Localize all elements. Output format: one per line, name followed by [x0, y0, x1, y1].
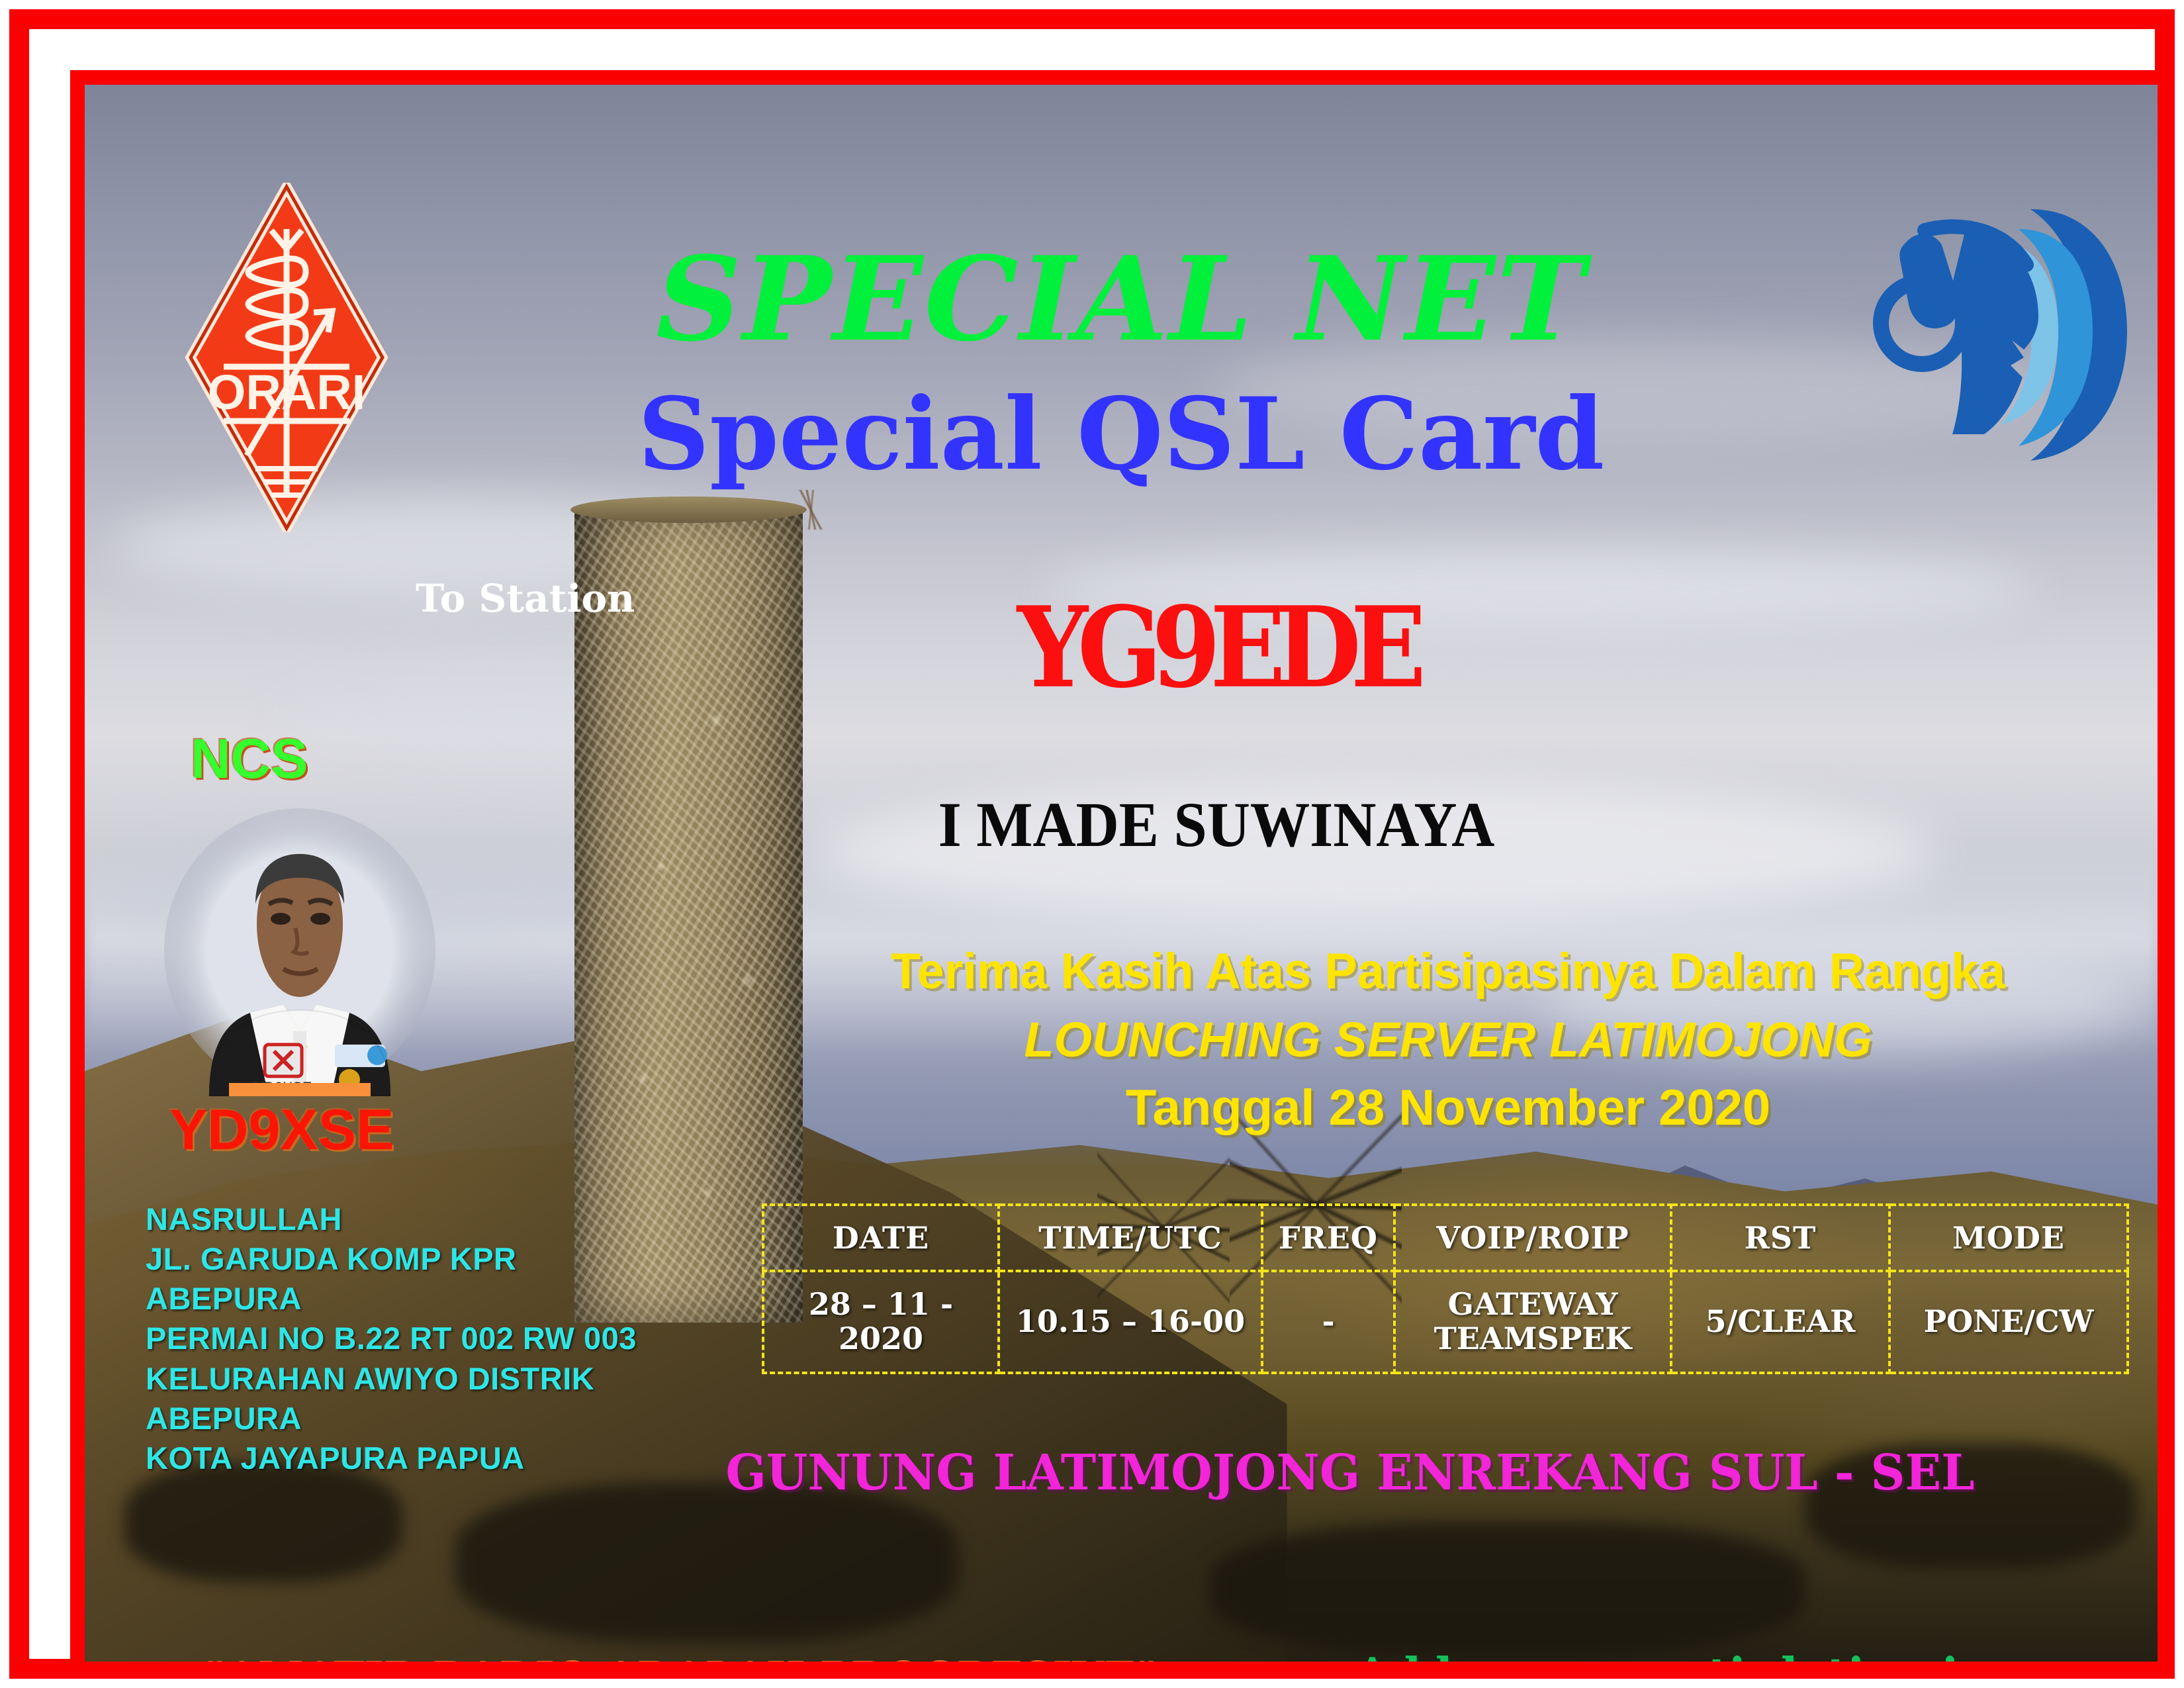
- address-line: PERMAI NO B.22 RT 002 RW 003: [146, 1319, 675, 1358]
- column-header-voip: VOIP/ROIP: [1394, 1205, 1671, 1271]
- ncs-callsign: YD9XSE: [169, 1098, 394, 1163]
- inner-red-border: ORARI SPECIAL NET Special QSL Card To St…: [70, 70, 2172, 1676]
- rock-shadow: [1210, 1523, 1805, 1655]
- dry-grass-sprig: [773, 490, 852, 530]
- table-row: 28 – 11 - 2020 10.15 – 16-00 - GATEWAY T…: [763, 1271, 2128, 1373]
- page-title: SPECIAL NET: [70, 232, 2172, 367]
- address-line: JL. GARUDA KOMP KPR: [146, 1239, 675, 1279]
- qsl-card: ORARI SPECIAL NET Special QSL Card To St…: [0, 0, 2184, 1688]
- address-line: ABEPURA: [146, 1279, 675, 1319]
- cell-voip-line1: GATEWAY: [1396, 1288, 1670, 1322]
- address-line: NASRULLAH: [146, 1199, 675, 1239]
- event-line: LOUNCHING SERVER LATIMOJONG: [753, 1011, 2143, 1068]
- rock-shadow: [455, 1483, 958, 1642]
- cell-freq: -: [1262, 1271, 1394, 1373]
- cell-rst: 5/CLEAR: [1671, 1271, 1889, 1373]
- ncs-operator-photo: YD9XSE: [158, 798, 442, 1096]
- table-header-row: DATE TIME/UTC FREQ VOIP/ROIP RST MODE: [763, 1205, 2128, 1271]
- ncs-label: NCS: [191, 727, 308, 791]
- pillar-top: [570, 496, 807, 523]
- operator-name: I MADE SUWINAYA: [825, 788, 1608, 861]
- location-line: GUNUNG LATIMOJONG ENREKANG SUL - SEL: [726, 1444, 1946, 1501]
- cell-voip: GATEWAY TEAMSPEK: [1394, 1271, 1671, 1373]
- column-header-mode: MODE: [1889, 1205, 2128, 1271]
- column-header-date: DATE: [763, 1205, 999, 1271]
- cell-mode: PONE/CW: [1889, 1271, 2128, 1373]
- motto-text: "AMATIR RADIO ADALAH PROGRESIVE": [205, 1652, 1158, 1676]
- column-header-rst: RST: [1671, 1205, 1889, 1271]
- outer-red-border: ORARI SPECIAL NET Special QSL Card To St…: [9, 9, 2175, 1679]
- column-header-time: TIME/UTC: [999, 1205, 1262, 1271]
- station-callsign: YG9EDE: [886, 583, 1547, 713]
- cell-date: 28 – 11 - 2020: [763, 1271, 999, 1373]
- web-address-text: Address : amatir.latimojong.com: [1355, 1647, 2171, 1676]
- to-station-label: To Station: [416, 576, 635, 621]
- postal-address-block: NASRULLAH JL. GARUDA KOMP KPR ABEPURA PE…: [146, 1199, 675, 1478]
- cell-voip-line2: TEAMSPEK: [1396, 1322, 1670, 1356]
- address-line: KOTA JAYAPURA PAPUA: [146, 1438, 675, 1478]
- cell-time: 10.15 – 16-00: [999, 1271, 1262, 1373]
- thanks-line: Terima Kasih Atas Partisipasinya Dalam R…: [774, 943, 2122, 1000]
- address-line: KELURAHAN AWIYO DISTRIK: [146, 1359, 675, 1399]
- address-line: ABEPURA: [146, 1399, 675, 1438]
- page-subtitle: Special QSL Card: [85, 376, 2158, 492]
- qso-log-table: DATE TIME/UTC FREQ VOIP/ROIP RST MODE 28…: [762, 1203, 2129, 1374]
- rock-shadow: [124, 1463, 402, 1582]
- column-header-freq: FREQ: [1262, 1205, 1394, 1271]
- event-date-line: Tanggal 28 November 2020: [753, 1079, 2143, 1137]
